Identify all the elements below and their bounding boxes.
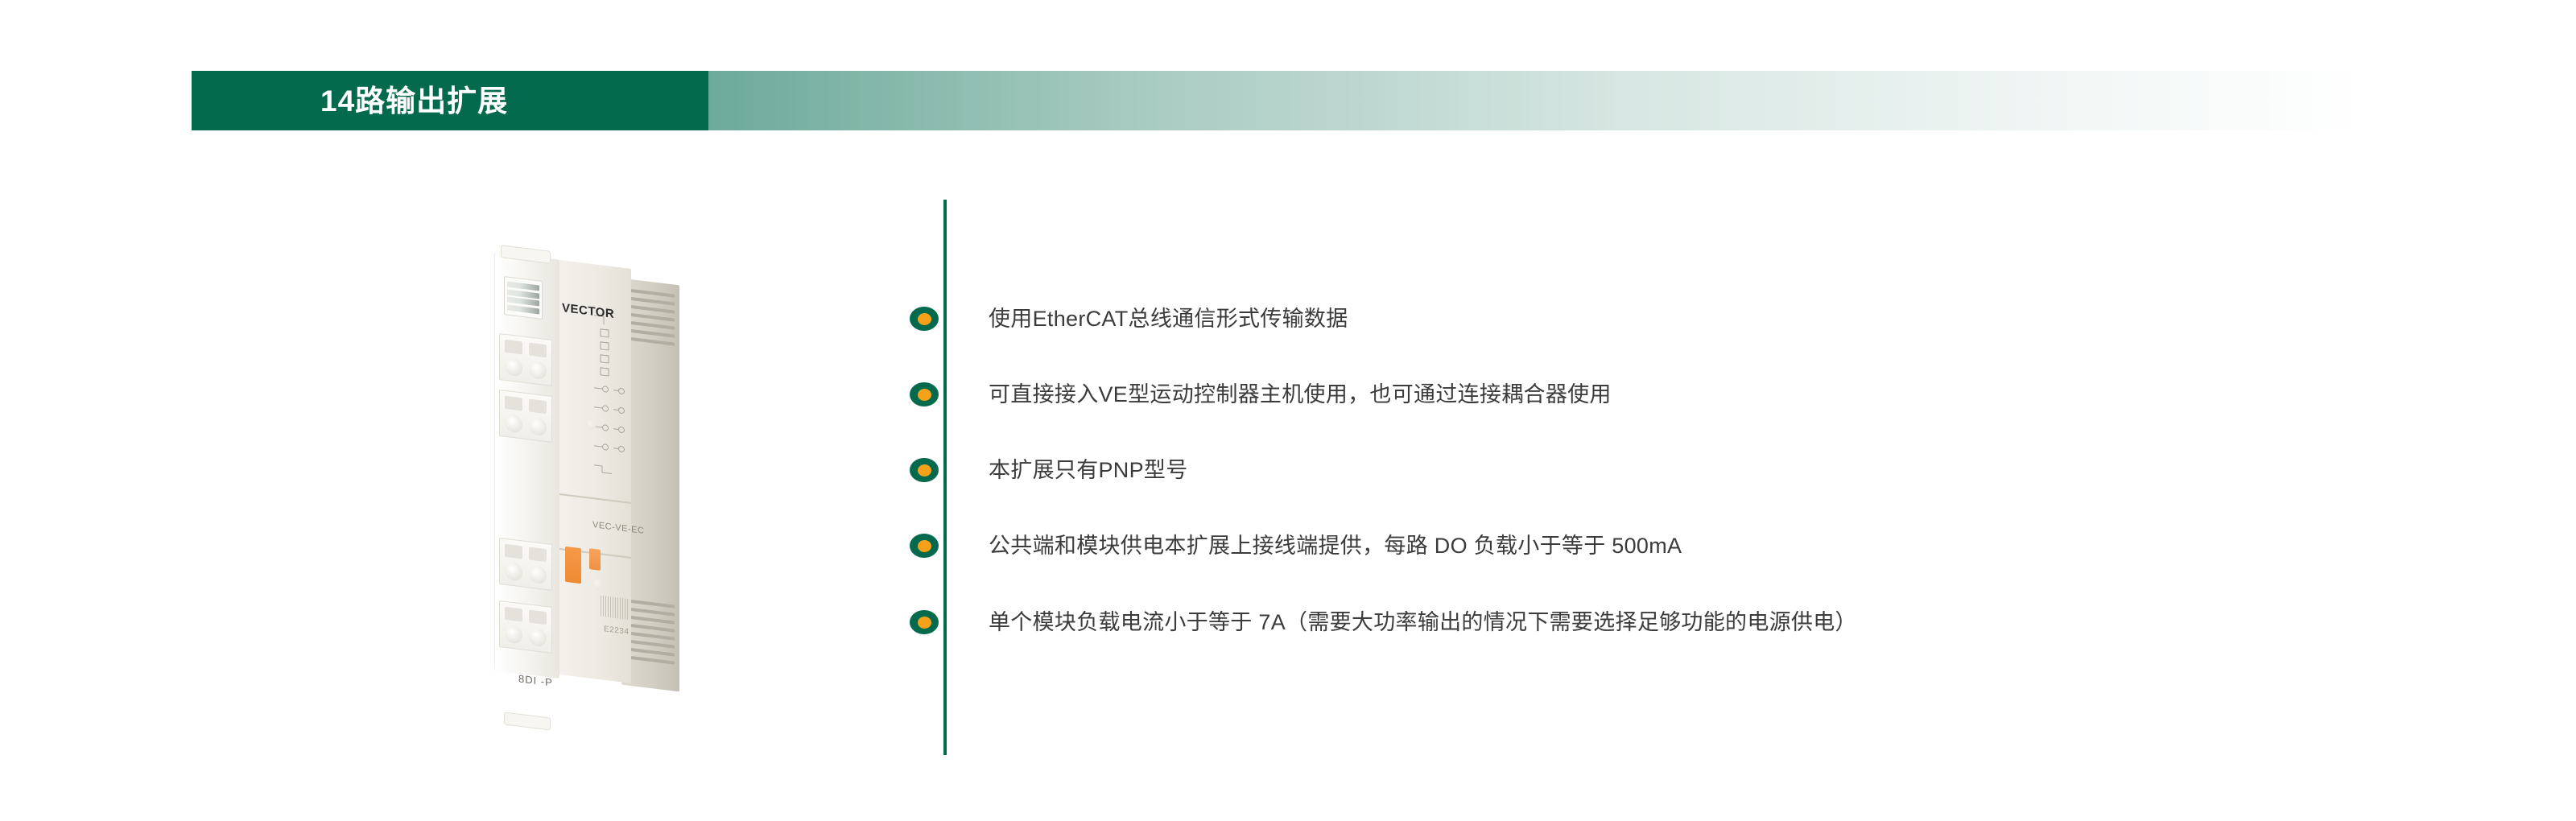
module-wiring-diagram-icon [586,310,631,485]
feature-item-2-text: 可直接接入VE型运动控制器主机使用，也可通过连接耦合器使用 [989,382,1612,407]
feature-item-1: 使用EtherCAT总线通信形式传输数据 [910,303,1348,335]
bullet-marker-icon [910,610,939,634]
feature-item-3: 本扩展只有PNP型号 [910,454,1188,486]
feature-item-5-text: 单个模块负载电流小于等于 7A（需要大功率输出的情况下需要选择足够功能的电源供电… [989,609,1857,635]
module-release-tab-secondary [589,548,601,571]
bullet-marker-icon [910,458,939,482]
feature-item-3-text: 本扩展只有PNP型号 [989,457,1188,483]
bullet-marker-icon [910,382,939,406]
product-image: VECTOR VEC-VE-EC E2234 8DI -P [451,233,773,765]
header-banner: 14路输出扩展 [192,71,2375,130]
module-terminal-block [499,538,552,591]
feature-item-4-text: 公共端和模块供电本扩展上接线端提供，每路 DO 负载小于等于 500mA [989,533,1682,559]
module-terminal-block [499,600,552,654]
module-barcode [601,596,630,620]
product-module-illustration: VECTOR VEC-VE-EC E2234 8DI -P [451,233,773,765]
module-terminal-block [499,390,552,443]
page-title: 14路输出扩展 [192,71,708,130]
product-feature-page: 14路输出扩展 [0,0,2576,821]
module-release-tab [565,547,581,584]
feature-item-4: 公共端和模块供电本扩展上接线端提供，每路 DO 负载小于等于 500mA [910,530,1682,562]
bullet-marker-icon [910,307,939,331]
feature-list: 使用EtherCAT总线通信形式传输数据 可直接接入VE型运动控制器主机使用，也… [910,200,2359,763]
feature-item-2: 可直接接入VE型运动控制器主机使用，也可通过连接耦合器使用 [910,378,1612,410]
bullet-marker-icon [910,534,939,558]
module-din-clip-bottom [504,712,551,730]
feature-item-1-text: 使用EtherCAT总线通信形式传输数据 [989,306,1348,332]
module-led-indicators [504,276,543,320]
feature-item-5: 单个模块负载电流小于等于 7A（需要大功率输出的情况下需要选择足够功能的电源供电… [910,606,1857,638]
module-terminal-block [499,333,552,386]
